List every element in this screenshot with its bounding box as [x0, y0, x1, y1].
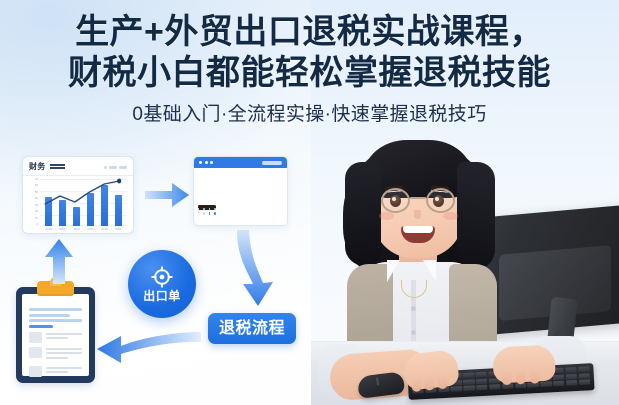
page-title-line-2: 财税小白都能轻松掌握退税技能 — [0, 53, 619, 94]
table-cell — [198, 208, 199, 213]
x-tick — [87, 228, 94, 230]
export-form-badge[interactable]: 出口单 — [128, 250, 196, 318]
chart-x-axis — [40, 228, 127, 230]
cell-line — [209, 208, 210, 211]
paper-line — [29, 319, 82, 322]
y-tick: 40 — [29, 197, 39, 200]
cell-line — [209, 212, 210, 215]
cell-line — [203, 208, 204, 211]
cell-line — [203, 212, 204, 215]
divider — [23, 175, 133, 176]
finger — [501, 369, 512, 386]
paper-row — [29, 347, 82, 362]
table-cell — [209, 208, 210, 215]
cell-line — [214, 208, 216, 211]
header: 生产+外贸出口退税实战课程， 财税小白都能轻松掌握退税技能 0基础入门·全流程实… — [0, 12, 619, 127]
menu-lines-icon — [50, 164, 65, 170]
glasses-lens-left — [381, 188, 410, 213]
x-tick — [101, 228, 108, 230]
window-dot-icon — [205, 161, 208, 164]
glasses-lens-right — [426, 188, 455, 213]
shirt-button — [411, 330, 416, 335]
shirt-button — [411, 306, 416, 311]
arrow-clipboard-to-chart-icon — [42, 238, 76, 286]
y-tick: 0 — [29, 223, 39, 226]
chart-plot-area — [40, 178, 127, 226]
x-tick — [115, 228, 122, 230]
finger — [436, 372, 448, 389]
collar-right — [423, 260, 436, 282]
glasses-bridge — [410, 197, 426, 199]
nose — [414, 210, 421, 219]
paper-thumb — [29, 366, 42, 377]
cheek-right — [443, 212, 458, 220]
poster-canvas: 生产+外贸出口退税实战课程， 财税小白都能轻松掌握退税技能 0基础入门·全流程实… — [0, 0, 619, 405]
process-infographic: 财务 70 60 50 40 30 20 10 0 — [0, 140, 322, 405]
chart-trend-line — [40, 178, 127, 226]
paper-text — [46, 347, 82, 362]
paper-row — [29, 366, 82, 377]
hair-side-right — [457, 162, 495, 270]
x-tick — [45, 228, 52, 230]
hand-right — [492, 344, 556, 383]
arrow-process-to-clipboard-icon — [95, 326, 203, 368]
paper-line — [29, 314, 70, 317]
y-tick: 20 — [29, 210, 39, 213]
cell-line — [214, 212, 216, 215]
window-controls-icon — [104, 166, 127, 169]
arrow-chart-to-browser-icon — [143, 180, 191, 210]
y-tick: 70 — [29, 178, 39, 181]
page-title-line-1: 生产+外贸出口退税实战课程， — [0, 12, 619, 53]
tax-refund-process-button[interactable]: 退税流程 — [208, 313, 296, 344]
y-tick: 30 — [29, 204, 39, 207]
cheek-left — [379, 212, 394, 220]
window-titlebar — [194, 157, 287, 168]
clipboard-paper — [22, 294, 89, 376]
finger — [515, 368, 526, 385]
chart-body: 70 60 50 40 30 20 10 0 — [29, 178, 127, 232]
table-row — [198, 205, 216, 210]
y-tick: 10 — [29, 217, 39, 220]
finger — [423, 374, 435, 391]
arrow-browser-to-process-icon — [232, 228, 280, 310]
window-dot-icon — [210, 161, 213, 164]
y-tick: 60 — [29, 184, 39, 187]
paper-row — [29, 332, 82, 343]
document-clipboard[interactable] — [16, 287, 95, 383]
address-pill — [262, 161, 282, 165]
table-cell — [203, 208, 204, 215]
page-subtitle: 0基础入门·全流程实操·快速掌握退税技巧 — [0, 103, 619, 127]
collar-left — [387, 260, 400, 282]
badge-label: 出口单 — [143, 290, 181, 303]
paper-thumb — [29, 347, 42, 358]
paper-line — [29, 308, 82, 311]
chart-card-header: 财务 — [29, 162, 127, 172]
x-tick — [73, 228, 80, 230]
y-tick: 50 — [29, 191, 39, 194]
system-window-card[interactable] — [193, 156, 288, 226]
cell-chip — [198, 208, 199, 213]
teeth — [403, 226, 433, 233]
chart-title: 财务 — [29, 162, 46, 172]
chart-y-axis: 70 60 50 40 30 20 10 0 — [29, 178, 39, 226]
instructor-avatar — [325, 138, 511, 368]
finger — [411, 375, 423, 392]
paper-highlight-line — [29, 325, 53, 328]
finance-chart-card[interactable]: 财务 70 60 50 40 30 20 10 0 — [22, 156, 134, 234]
paper-thumb — [29, 332, 42, 343]
finger — [529, 367, 540, 384]
paper-text — [46, 366, 82, 376]
x-tick — [59, 228, 66, 230]
window-table — [194, 168, 287, 175]
window-dot-icon — [199, 161, 202, 164]
paper-text — [46, 332, 82, 342]
target-gear-icon — [151, 266, 173, 288]
table-cell — [214, 208, 216, 211]
